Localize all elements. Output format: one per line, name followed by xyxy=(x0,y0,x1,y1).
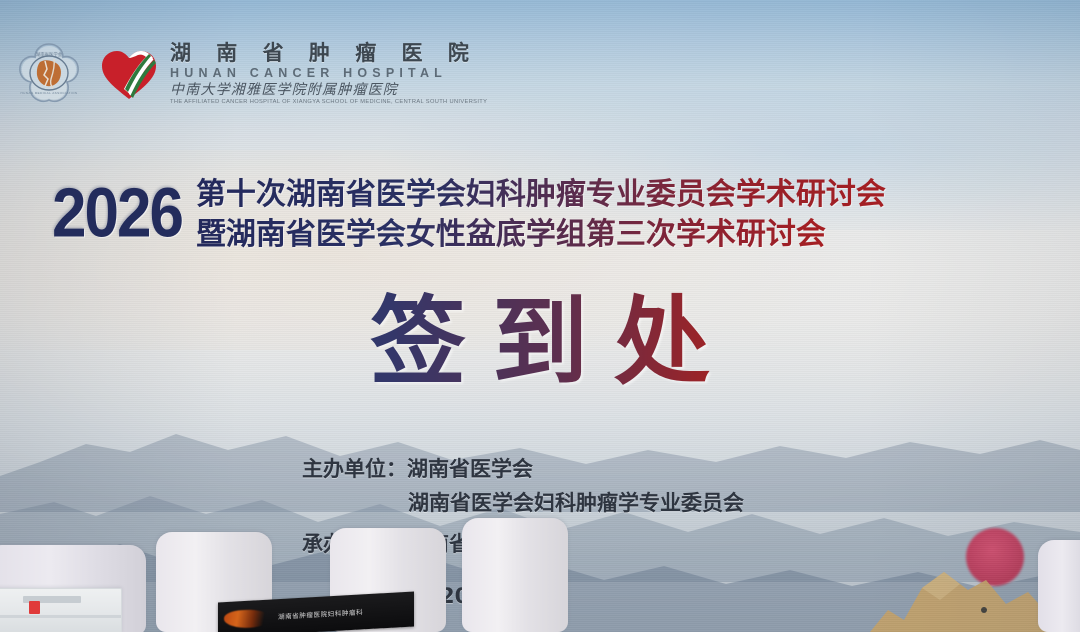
event-title-lines: 第十次湖南省医学会妇科肿瘤专业委员会学术研讨会 暨湖南省医学会女性盆底学组第三次… xyxy=(196,176,886,254)
heart-mark-icon xyxy=(98,45,160,103)
placard-flame-icon xyxy=(224,609,270,630)
hospital-name-en: HUNAN CANCER HOSPITAL xyxy=(170,67,481,80)
organizer-host-1: 湖南省医学会 xyxy=(407,457,533,481)
organizer-host-2: 湖南省医学会妇科肿瘤学专业委员会 xyxy=(302,486,744,520)
placard-text: 湖南省肿瘤医院妇科肿瘤科 xyxy=(278,606,363,621)
logo-row: 湖南省医学会 HUNAN MEDICAL ASSOCIATION 湖 南 省 肿… xyxy=(14,28,481,120)
event-title-line-1: 第十次湖南省医学会妇科肿瘤专业委员会学术研讨会 xyxy=(196,176,886,214)
organizer-block: 主办单位：湖南省医学会 湖南省医学会妇科肿瘤学专业委员会 xyxy=(302,452,744,520)
hospital-name-block: 湖 南 省 肿 瘤 医 院 HUNAN CANCER HOSPITAL 中南大学… xyxy=(170,42,481,106)
hospital-affiliation-en: THE AFFILIATED CANCER HOSPITAL OF XIANGY… xyxy=(170,100,487,106)
svg-text:湖南省医学会: 湖南省医学会 xyxy=(36,51,63,58)
organizer-host-label: 主办单位： xyxy=(302,457,407,481)
registration-desk-headline: 签到处 xyxy=(0,292,1080,393)
organizer-host-line: 主办单位：湖南省医学会 xyxy=(302,452,744,486)
ballot-box-lip xyxy=(0,615,121,618)
event-year: 2026 xyxy=(52,181,182,249)
ballot-box-red-tab xyxy=(29,601,40,614)
ballot-box xyxy=(0,588,122,632)
chair-4 xyxy=(462,518,568,632)
hunan-cancer-hospital-logo: 湖 南 省 肿 瘤 医 院 HUNAN CANCER HOSPITAL 中南大学… xyxy=(98,42,481,106)
photo-scene: 湖南省医学会 HUNAN MEDICAL ASSOCIATION 湖 南 省 肿… xyxy=(0,0,1080,632)
hospital-name-cn: 湖 南 省 肿 瘤 医 院 xyxy=(170,42,481,63)
hospital-affiliation-cn: 中南大学湘雅医学院附属肿瘤医院 xyxy=(170,83,481,97)
svg-text:HUNAN MEDICAL ASSOCIATION: HUNAN MEDICAL ASSOCIATION xyxy=(20,91,77,95)
event-title-block: 2026 第十次湖南省医学会妇科肿瘤专业委员会学术研讨会 暨湖南省医学会女性盆底… xyxy=(52,176,1042,254)
chair-5 xyxy=(1038,540,1080,632)
event-title-line-2: 暨湖南省医学会女性盆底学组第三次学术研讨会 xyxy=(196,216,886,254)
hunan-medical-association-emblem-icon: 湖南省医学会 HUNAN MEDICAL ASSOCIATION xyxy=(14,39,84,109)
